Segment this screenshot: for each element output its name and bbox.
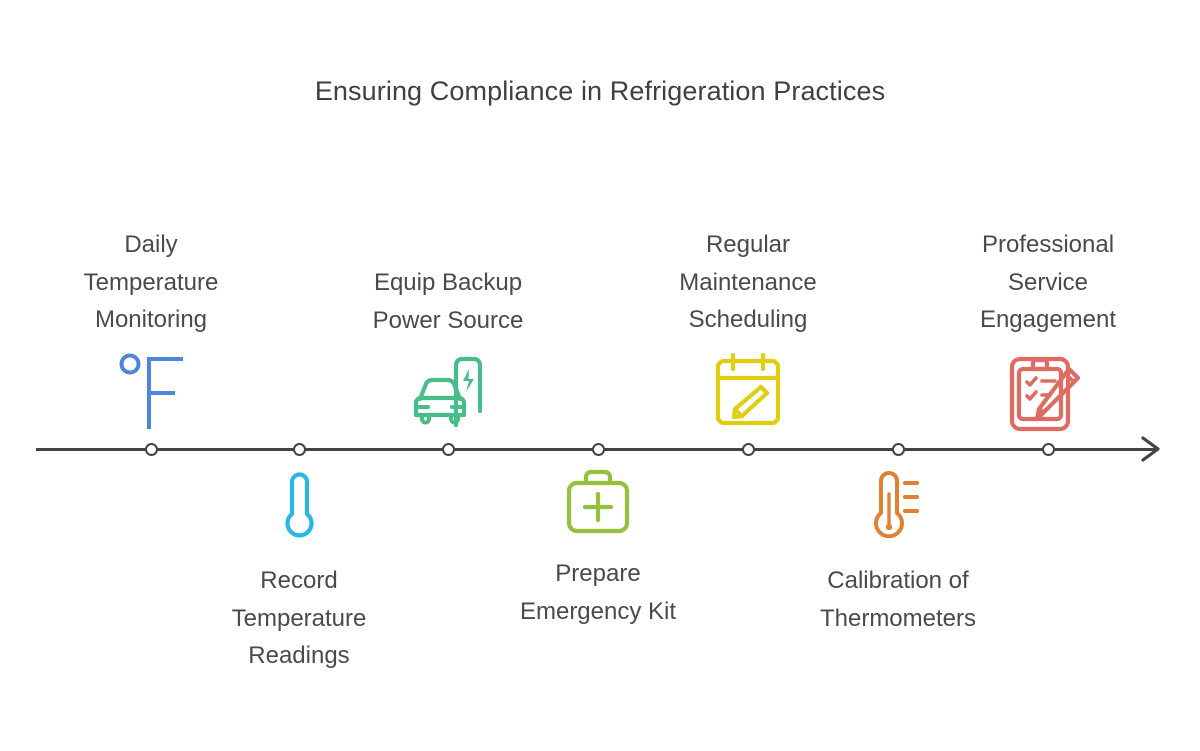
degrees-fahrenheit-icon — [113, 351, 189, 431]
milestone-label: Calibration of Thermometers — [820, 562, 976, 637]
milestone-label: Regular Maintenance Scheduling — [679, 226, 816, 339]
milestone-label: Professional Service Engagement — [980, 226, 1116, 339]
milestone-label: Record Temperature Readings — [232, 562, 367, 675]
timeline-node-7[interactable] — [1042, 443, 1055, 456]
timeline-node-4[interactable] — [592, 443, 605, 456]
milestone-regular-maintenance-scheduling[interactable]: Regular Maintenance Scheduling — [623, 226, 873, 431]
milestone-professional-service-engagement[interactable]: Professional Service Engagement — [923, 226, 1173, 435]
timeline-node-3[interactable] — [442, 443, 455, 456]
page-title: Ensuring Compliance in Refrigeration Pra… — [0, 76, 1200, 107]
timeline-node-2[interactable] — [293, 443, 306, 456]
milestone-prepare-emergency-kit[interactable]: Prepare Emergency Kit — [473, 467, 723, 630]
timeline-node-6[interactable] — [892, 443, 905, 456]
timeline-node-1[interactable] — [145, 443, 158, 456]
milestone-label: Equip Backup Power Source — [373, 264, 524, 339]
timeline-node-5[interactable] — [742, 443, 755, 456]
milestone-equip-backup-power-source[interactable]: Equip Backup Power Source — [323, 264, 573, 433]
clipboard-checklist-pencil-icon — [1006, 351, 1090, 435]
calendar-pencil-icon — [712, 351, 784, 431]
ev-charging-car-icon — [406, 351, 490, 433]
timeline-infographic: Ensuring Compliance in Refrigeration Pra… — [0, 0, 1200, 751]
thermometer-outline-icon — [275, 466, 323, 548]
timeline-arrow-icon — [1139, 433, 1163, 465]
first-aid-kit-icon — [561, 467, 635, 541]
milestone-daily-temperature-monitoring[interactable]: Daily Temperature Monitoring — [26, 226, 276, 431]
thermometer-gauge-icon — [867, 466, 929, 548]
milestone-calibration-of-thermometers[interactable]: Calibration of Thermometers — [773, 466, 1023, 637]
milestone-label: Prepare Emergency Kit — [520, 555, 676, 630]
milestone-record-temperature-readings[interactable]: Record Temperature Readings — [174, 466, 424, 675]
milestone-label: Daily Temperature Monitoring — [84, 226, 219, 339]
